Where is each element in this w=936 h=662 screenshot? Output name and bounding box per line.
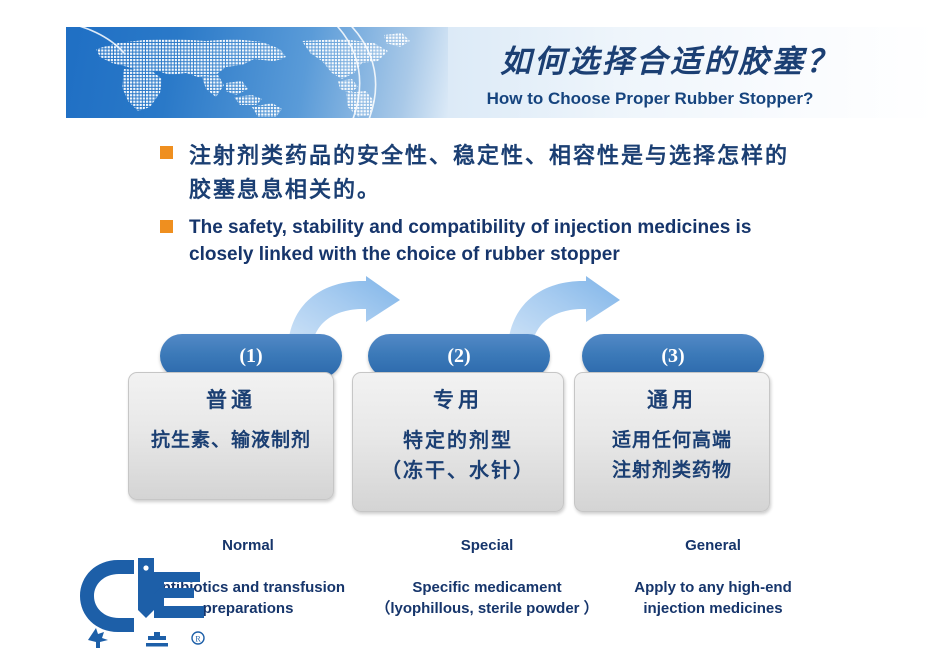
stage-card-1: 普通 抗生素、输液制剂 xyxy=(128,372,334,500)
stage-card-body-1: 抗生素、输液制剂 xyxy=(135,425,327,455)
hualan-cl-logo-icon: R xyxy=(68,548,238,648)
stage-caption-head-3: General xyxy=(608,535,818,556)
stage-card-2: 专用 特定的剂型 （冻干、水针） xyxy=(352,372,564,512)
stage-column-2: (2) 专用 特定的剂型 （冻干、水针） xyxy=(368,334,564,512)
stage-card-title-1: 普通 xyxy=(135,385,327,415)
stage-caption-body-2: Specific medicament （lyophillous, steril… xyxy=(375,579,598,617)
stage-caption-2: Special Specific medicament （lyophillous… xyxy=(360,514,614,619)
stage-pill-label-2: (2) xyxy=(447,345,470,368)
stage-pill-label-3: (3) xyxy=(661,345,684,368)
stage-caption-head-2: Special xyxy=(360,535,614,556)
stage-caption-body-3: Apply to any high-end injection medicine… xyxy=(634,579,792,617)
stage-column-3: (3) 通用 适用任何高端 注射剂类药物 xyxy=(582,334,770,512)
stage-card-body-3: 适用任何高端 注射剂类药物 xyxy=(581,425,763,485)
stage-card-body-2: 特定的剂型 （冻干、水针） xyxy=(359,425,557,485)
stage-caption-3: General Apply to any high-end injection … xyxy=(608,514,818,619)
stage-pill-label-1: (1) xyxy=(239,345,262,368)
stage-card-3: 通用 适用任何高端 注射剂类药物 xyxy=(574,372,770,512)
stage-card-title-3: 通用 xyxy=(581,385,763,415)
stage-column-1: (1) 普通 抗生素、输液制剂 xyxy=(160,334,342,500)
registered-mark-glyph: R xyxy=(195,635,201,644)
stage-card-title-2: 专用 xyxy=(359,385,557,415)
